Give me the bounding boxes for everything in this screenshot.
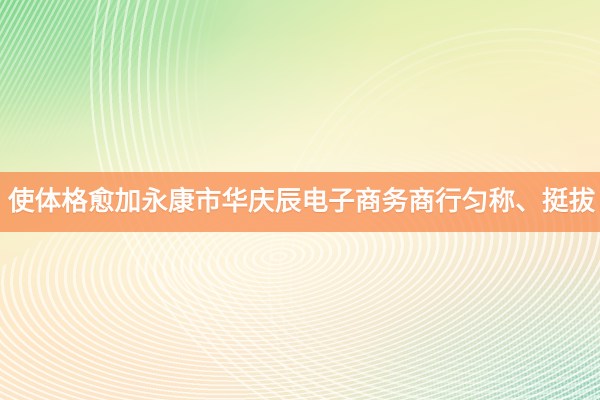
title-banner-band: 使体格愈加永康市华庆辰电子商务商行匀称、挺拔 <box>0 172 600 232</box>
page-title: 使体格愈加永康市华庆辰电子商务商行匀称、挺拔 <box>8 189 595 216</box>
banner-image: 使体格愈加永康市华庆辰电子商务商行匀称、挺拔 <box>0 0 600 400</box>
